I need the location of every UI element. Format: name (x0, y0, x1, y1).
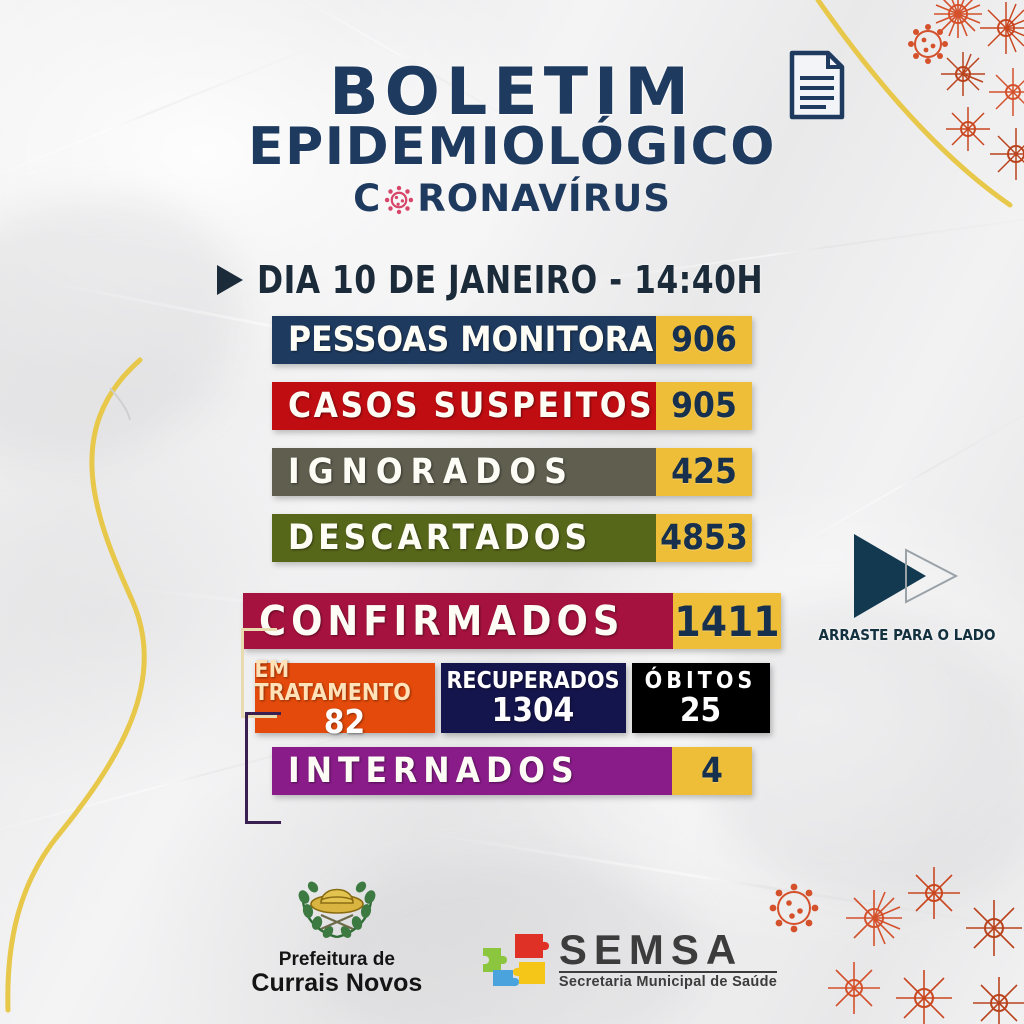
stat-row-descartados: DESCARTADOS 4853 (272, 514, 752, 562)
poster-footer: Prefeitura de Currais Novos SEMSA Secret… (0, 871, 1024, 996)
bulletin-date-text: DIA 10 DE JANEIRO - 14:40H (257, 258, 763, 302)
breakdown-card-em-tratamento: EM TRATAMENTO 82 (255, 663, 435, 733)
stat-value: 905 (656, 382, 752, 430)
stat-value: 906 (656, 316, 752, 364)
breakdown-card-recuperados: RECUPERADOS 1304 (441, 663, 626, 733)
breakdown-value: 25 (680, 693, 721, 728)
stat-label: PESSOAS MONITORADAS (272, 316, 656, 364)
epidemiological-bulletin-poster: BOLETIM EPIDEMIOLÓGICO C (0, 0, 1024, 1024)
puzzle-logo-icon (479, 930, 553, 990)
stat-value: 425 (656, 448, 752, 496)
prefeitura-line2: Currais Novos (247, 970, 427, 996)
stat-row-internados: INTERNADOS 4 (272, 747, 752, 795)
corona-title-prefix: C (353, 177, 381, 220)
stat-row-confirmados: CONFIRMADOS 1411 (243, 593, 781, 649)
virus-particle-icon (382, 183, 416, 217)
semsa-subtitle: Secretaria Municipal de Saúde (559, 975, 777, 990)
semsa-text-block: SEMSA Secretaria Municipal de Saúde (559, 930, 777, 989)
stat-row-ignorados: IGNORADOS 425 (272, 448, 752, 496)
play-triangle-outline-icon (900, 546, 960, 606)
stat-label: CASOS SUSPEITOS (272, 382, 656, 430)
breakdown-label: EM TRATAMENTO (255, 659, 435, 705)
prefeitura-logo: Prefeitura de Currais Novos (247, 871, 427, 996)
stat-label: INTERNADOS (272, 747, 672, 795)
stat-label: IGNORADOS (272, 448, 656, 496)
page-title: BOLETIM (248, 62, 776, 124)
stat-row-casos-suspeitos: CASOS SUSPEITOS 905 (272, 382, 752, 430)
stat-label: DESCARTADOS (272, 514, 656, 562)
bulletin-date: DIA 10 DE JANEIRO - 14:40H (0, 258, 1024, 302)
corona-title: C RONAVÍRUS (0, 177, 1024, 220)
semsa-logo: SEMSA Secretaria Municipal de Saúde (479, 930, 777, 996)
swipe-arrow-group (812, 528, 1002, 624)
breakdown-value: 82 (324, 705, 365, 740)
stat-value: 4853 (656, 514, 752, 562)
swipe-hint[interactable]: ARRASTE PARA O LADO (812, 528, 1002, 644)
title-block: BOLETIM EPIDEMIOLÓGICO (248, 62, 776, 175)
swipe-hint-label: ARRASTE PARA O LADO (812, 626, 1002, 644)
play-triangle-icon (217, 265, 243, 295)
confirmed-breakdown-row: EM TRATAMENTO 82 RECUPERADOS 1304 ÓBITOS… (255, 663, 770, 733)
document-icon (788, 50, 846, 120)
coat-of-arms-icon (291, 871, 383, 943)
page-subtitle: EPIDEMIOLÓGICO (248, 120, 776, 175)
prefeitura-line1: Prefeitura de (247, 950, 427, 970)
breakdown-value: 1304 (492, 693, 575, 728)
poster-header: BOLETIM EPIDEMIOLÓGICO C (0, 62, 1024, 220)
stat-row-pessoas-monitoradas: PESSOAS MONITORADAS 906 (272, 316, 752, 364)
breakdown-card-obitos: ÓBITOS 25 (632, 663, 770, 733)
stat-value: 1411 (673, 593, 781, 649)
stat-value: 4 (672, 747, 752, 795)
semsa-wordmark: SEMSA (559, 930, 777, 970)
semsa-divider (559, 971, 777, 973)
stat-label: CONFIRMADOS (243, 593, 673, 649)
corona-title-suffix: RONAVÍRUS (417, 177, 671, 220)
